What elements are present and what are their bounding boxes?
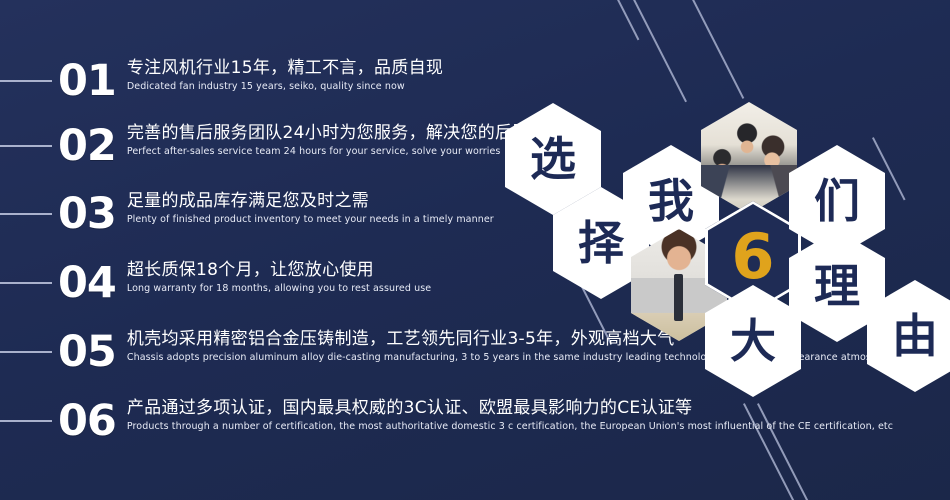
- promo-banner: 01 专注风机行业15年，精工不言，品质自现 Dedicated fan ind…: [0, 0, 950, 500]
- hex-char: 选: [530, 136, 576, 182]
- hex-char: 择: [578, 220, 624, 266]
- hex-number: 6: [731, 226, 774, 288]
- hex-char: 理: [814, 263, 860, 309]
- hex-char: 大: [730, 318, 776, 364]
- headline-hex-grid: 选 择 我 6 大 们: [0, 0, 950, 500]
- hex-char: 我: [648, 178, 694, 224]
- hex-char: 由: [892, 313, 938, 359]
- hex-char: 们: [814, 178, 860, 224]
